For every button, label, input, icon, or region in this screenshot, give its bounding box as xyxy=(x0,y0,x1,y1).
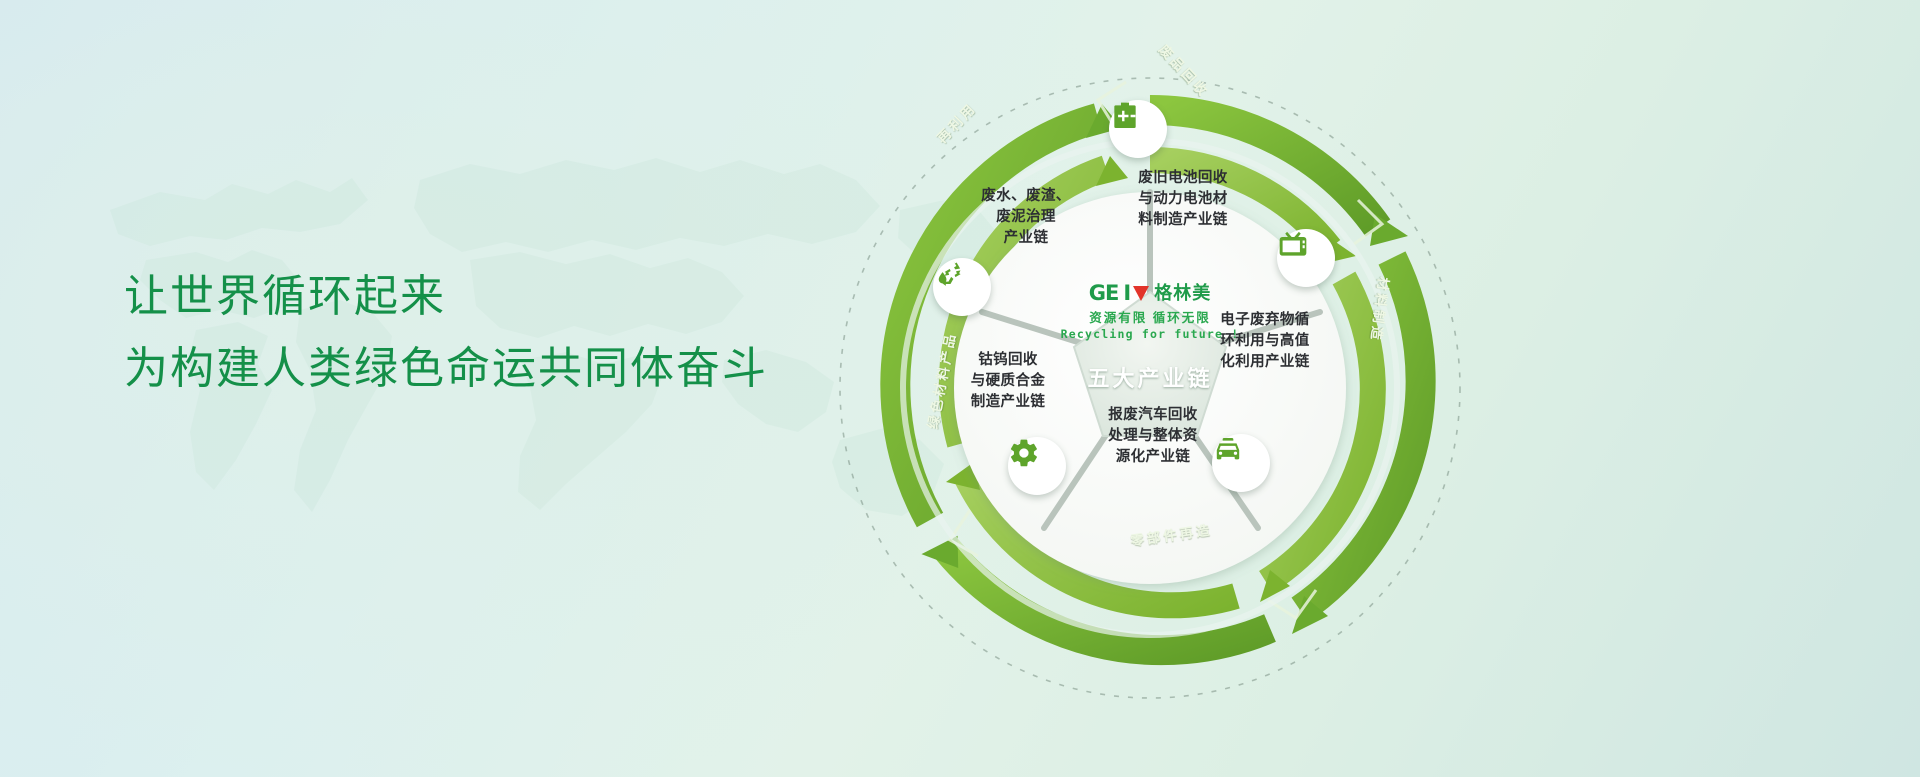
gem-triangle-icon xyxy=(1133,286,1149,301)
tv-icon-badge xyxy=(1277,229,1335,287)
tv-icon xyxy=(1277,229,1309,261)
gem-chinese-name: 格林美 xyxy=(1154,284,1211,302)
segment-label-cobalt: 钴钨回收 与硬质合金 制造产业链 xyxy=(948,350,1068,413)
gem-logotype: GE I 格林美 xyxy=(1055,282,1245,304)
hero-banner: 让世界循环起来 为构建人类绿色命运共同体奋斗 xyxy=(0,0,1920,777)
segment-label-auto: 报废汽车回收 处理与整体资 源化产业链 xyxy=(1088,405,1218,468)
gem-slogan-cn: 资源有限 循环无限 xyxy=(1055,307,1245,326)
car-icon xyxy=(1212,434,1244,466)
gear-icon-badge xyxy=(1008,437,1066,495)
car-icon-badge xyxy=(1212,434,1270,492)
battery-icon-badge xyxy=(1109,100,1167,158)
hero-headline: 让世界循环起来 为构建人类绿色命运共同体奋斗 xyxy=(124,266,884,401)
gem-slogan-en: Recycling for future ! xyxy=(1055,327,1245,341)
recycle-water-icon-badge xyxy=(933,258,991,316)
gem-wordmark-tail: I xyxy=(1123,283,1130,304)
gem-wordmark: GE xyxy=(1089,283,1119,304)
center-logo: GE I 格林美 资源有限 循环无限 Recycling for future … xyxy=(1055,282,1245,393)
headline-line-2: 为构建人类绿色命运共同体奋斗 xyxy=(124,338,884,400)
headline-line-1: 让世界循环起来 xyxy=(124,266,884,328)
battery-icon xyxy=(1109,100,1141,132)
industry-chain-diagram: 废旧电池回收 与动力电池材 料制造产业链 电子废弃物循 环利用与高值 化利用产业… xyxy=(830,0,1550,777)
recycle-water-icon xyxy=(933,258,965,290)
center-caption: 五大产业链 xyxy=(1055,361,1245,393)
segment-label-water: 废水、废渣、 废泥治理 产业链 xyxy=(966,186,1086,249)
segment-label-battery: 废旧电池回收 与动力电池材 料制造产业链 xyxy=(1118,168,1248,231)
gear-icon xyxy=(1008,437,1040,469)
